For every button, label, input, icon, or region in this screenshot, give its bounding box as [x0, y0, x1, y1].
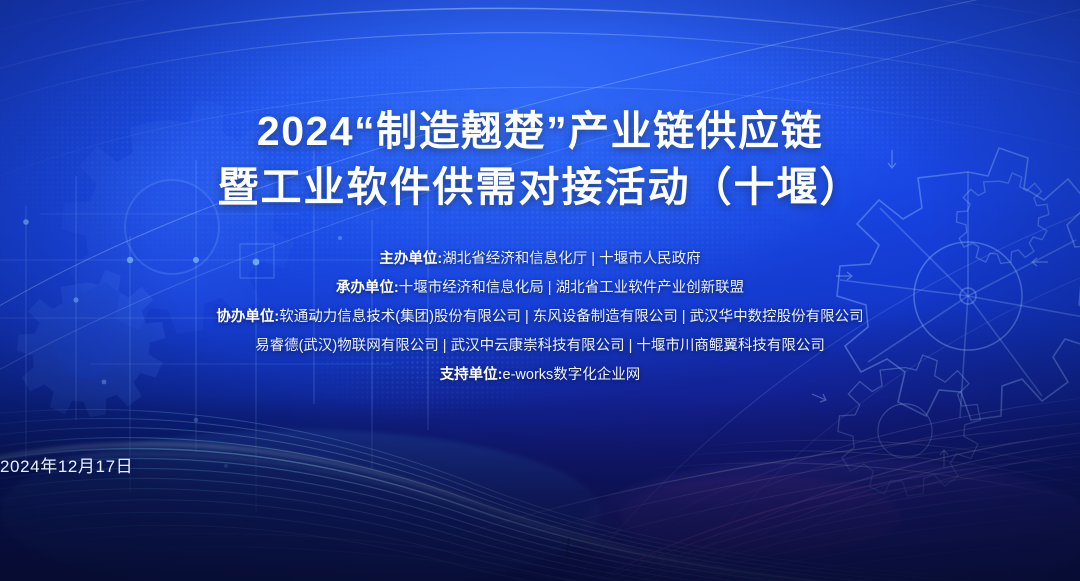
poster-canvas: 2024“制造翹楚”产业链供应链 暨工业软件供需对接活动（十堰） 主办单位:湖北… [0, 0, 1080, 581]
organizer-coorganizer-label: 承办单位: [336, 280, 399, 296]
title-line-2: 暨工业软件供需对接活动（十堰） [218, 160, 863, 216]
organizer-supporter-label: 支持单位: [440, 367, 503, 383]
organizer-coorganizer: 承办单位:十堰市经济和信息化局 | 湖北省工业软件产业创新联盟 [336, 276, 744, 301]
organizer-list: 主办单位:湖北省经济和信息化厅 | 十堰市人民政府 承办单位:十堰市经济和信息化… [216, 247, 863, 388]
organizer-supporter-value: e-works数字化企业网 [503, 367, 641, 383]
page-title: 2024“制造翹楚”产业链供应链 暨工业软件供需对接活动（十堰） [218, 104, 863, 216]
organizer-coorganizer-value: 十堰市经济和信息化局 | 湖北省工业软件产业创新联盟 [399, 280, 744, 296]
organizer-assistant-continued: 易睿德(武汉)物联网有限公司 | 武汉中云康崇科技有限公司 | 十堰市川商鲲翼科… [255, 334, 825, 359]
organizer-assistant: 协办单位:软通动力信息技术(集团)股份有限公司 | 东风设备制造有限公司 | 武… [216, 305, 863, 330]
organizer-supporter: 支持单位:e-works数字化企业网 [440, 363, 641, 388]
organizer-assistant-value-2: 易睿德(武汉)物联网有限公司 | 武汉中云康崇科技有限公司 | 十堰市川商鲲翼科… [255, 338, 825, 354]
organizer-assistant-value: 软通动力信息技术(集团)股份有限公司 | 东风设备制造有限公司 | 武汉华中数控… [279, 309, 863, 325]
organizer-host: 主办单位:湖北省经济和信息化厅 | 十堰市人民政府 [379, 247, 700, 272]
event-date: 2024年12月17日 [0, 452, 1080, 477]
organizer-assistant-label: 协办单位: [216, 309, 279, 325]
organizer-host-value: 湖北省经济和信息化厅 | 十堰市人民政府 [442, 251, 700, 267]
title-line-1: 2024“制造翹楚”产业链供应链 [218, 104, 863, 160]
organizer-host-label: 主办单位: [379, 251, 442, 267]
poster-content: 2024“制造翹楚”产业链供应链 暨工业软件供需对接活动（十堰） 主办单位:湖北… [0, 0, 1080, 581]
